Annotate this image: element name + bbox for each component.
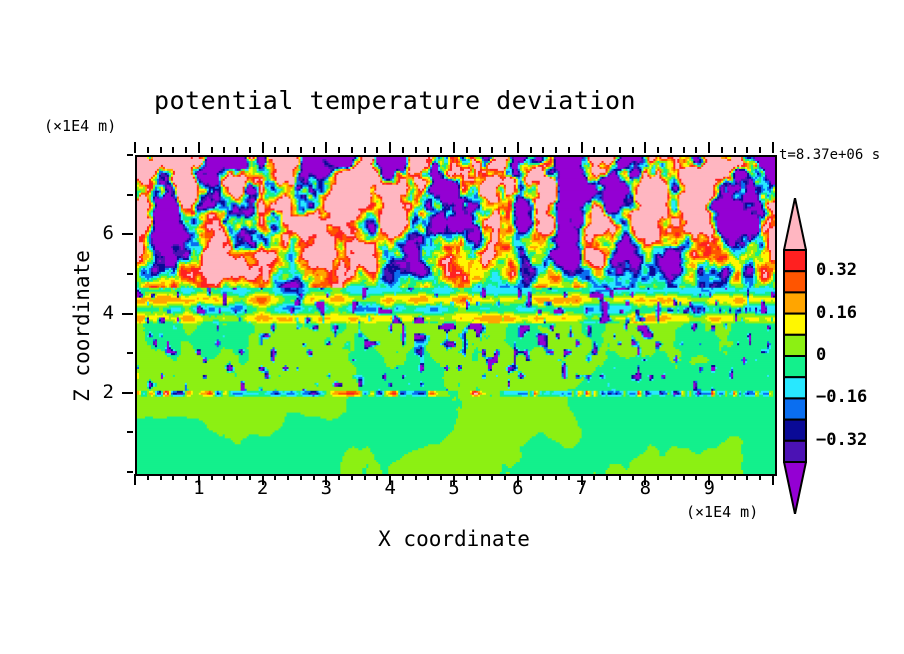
x-tick-label: 3	[311, 477, 341, 499]
y-tick-minor	[127, 431, 133, 433]
x-tick-minor	[160, 474, 162, 480]
colorbar-band	[784, 377, 806, 398]
x-tick-minor	[147, 474, 149, 480]
colorbar-band	[784, 314, 806, 335]
x-tick-top	[160, 147, 162, 153]
x-tick-top	[593, 147, 595, 153]
y-tick-minor	[127, 352, 133, 354]
y-tick-minor	[127, 471, 133, 473]
x-tick-minor	[351, 474, 353, 480]
x-axis-unit-label: (×1E4 m)	[686, 503, 758, 521]
x-tick-top	[172, 147, 174, 153]
x-tick-minor	[555, 474, 557, 480]
x-axis-title: X coordinate	[135, 527, 773, 551]
x-tick-top	[338, 147, 340, 153]
x-tick-top	[606, 147, 608, 153]
x-tick-top	[721, 147, 723, 153]
x-tick-minor	[479, 474, 481, 480]
y-tick-minor	[127, 273, 133, 275]
x-tick-top	[657, 147, 659, 153]
colorbar-band	[784, 420, 806, 441]
x-tick-top	[530, 147, 532, 153]
x-tick-top	[683, 147, 685, 153]
y-tick-major	[122, 313, 133, 315]
x-tick-minor	[683, 474, 685, 480]
x-tick-minor	[300, 474, 302, 480]
colorbar-band	[784, 271, 806, 292]
x-tick-top	[198, 142, 200, 153]
x-tick-top	[632, 147, 634, 153]
x-tick-top	[274, 147, 276, 153]
x-tick-top	[670, 147, 672, 153]
x-tick-label: 1	[184, 477, 214, 499]
colorbar-band	[784, 292, 806, 313]
x-tick-top	[555, 147, 557, 153]
y-tick-label: 2	[88, 381, 114, 403]
x-tick-top	[734, 147, 736, 153]
colorbar-band	[784, 335, 806, 356]
x-tick-top	[746, 147, 748, 153]
x-tick-top	[134, 142, 136, 153]
x-tick-top	[325, 142, 327, 153]
x-tick-minor	[606, 474, 608, 480]
x-tick-top	[517, 142, 519, 153]
y-tick-label: 6	[88, 222, 114, 244]
colorbar-band	[784, 441, 806, 462]
time-annotation: t=8.37e+06 s	[779, 147, 880, 163]
x-tick-top	[568, 147, 570, 153]
colorbar-tick-label: 0.32	[816, 260, 857, 280]
x-tick-top	[313, 147, 315, 153]
x-tick-label: 8	[630, 477, 660, 499]
x-tick-top	[223, 147, 225, 153]
x-tick-minor	[670, 474, 672, 480]
colorbar-tick-label: −0.16	[816, 387, 867, 407]
x-tick-minor	[491, 474, 493, 480]
x-tick-top	[300, 147, 302, 153]
contour-plot-area	[135, 155, 777, 476]
x-tick-top	[504, 147, 506, 153]
colorbar-band	[784, 356, 806, 377]
x-tick-minor	[759, 474, 761, 480]
colorbar-swatches	[783, 198, 807, 514]
x-tick-top	[440, 147, 442, 153]
x-tick-top	[708, 142, 710, 153]
x-tick-label: 7	[567, 477, 597, 499]
x-tick-top	[211, 147, 213, 153]
x-tick-minor	[415, 474, 417, 480]
x-tick-minor	[734, 474, 736, 480]
x-tick-minor	[619, 474, 621, 480]
x-tick-top	[351, 147, 353, 153]
x-tick-top	[453, 142, 455, 153]
figure-canvas: potential temperature deviation (×1E4 m)…	[0, 0, 904, 654]
x-tick-top	[695, 147, 697, 153]
x-tick-top	[772, 142, 774, 153]
x-tick-top	[364, 147, 366, 153]
x-tick-minor	[287, 474, 289, 480]
y-tick-major	[122, 392, 133, 394]
contour-field	[137, 157, 775, 474]
colorbar-under-arrow	[784, 462, 806, 514]
x-tick-label: 9	[694, 477, 724, 499]
colorbar-tick-label: −0.32	[816, 430, 867, 450]
x-tick-label: 5	[439, 477, 469, 499]
colorbar	[783, 198, 807, 514]
y-tick-major	[122, 233, 133, 235]
x-tick-top	[542, 147, 544, 153]
x-tick-top	[185, 147, 187, 153]
x-tick-top	[402, 147, 404, 153]
x-tick-minor	[223, 474, 225, 480]
y-tick-minor	[127, 154, 133, 156]
x-tick-top	[389, 142, 391, 153]
x-tick-top	[427, 147, 429, 153]
x-tick-minor	[427, 474, 429, 480]
x-tick-top	[491, 147, 493, 153]
page-title: potential temperature deviation	[0, 86, 790, 115]
y-axis-unit-label: (×1E4 m)	[44, 117, 116, 135]
x-tick-label: 2	[248, 477, 278, 499]
x-tick-minor	[542, 474, 544, 480]
x-tick-top	[236, 147, 238, 153]
y-tick-label: 4	[88, 302, 114, 324]
x-tick-top	[376, 147, 378, 153]
x-tick-minor	[236, 474, 238, 480]
x-tick-top	[249, 147, 251, 153]
x-tick-top	[581, 142, 583, 153]
x-tick-top	[147, 147, 149, 153]
y-tick-minor	[127, 194, 133, 196]
x-tick-top	[262, 142, 264, 153]
x-tick-major	[134, 474, 136, 485]
x-tick-minor	[364, 474, 366, 480]
x-tick-top	[287, 147, 289, 153]
x-tick-top	[644, 142, 646, 153]
x-tick-minor	[746, 474, 748, 480]
colorbar-over-arrow	[784, 198, 806, 250]
x-tick-label: 6	[503, 477, 533, 499]
x-tick-major	[772, 474, 774, 485]
x-tick-top	[479, 147, 481, 153]
x-tick-top	[759, 147, 761, 153]
colorbar-tick-label: 0.16	[816, 303, 857, 323]
colorbar-band	[784, 250, 806, 271]
x-tick-top	[619, 147, 621, 153]
x-tick-top	[466, 147, 468, 153]
colorbar-tick-label: 0	[816, 345, 826, 365]
x-tick-minor	[172, 474, 174, 480]
x-tick-top	[415, 147, 417, 153]
colorbar-band	[784, 398, 806, 419]
x-tick-label: 4	[375, 477, 405, 499]
